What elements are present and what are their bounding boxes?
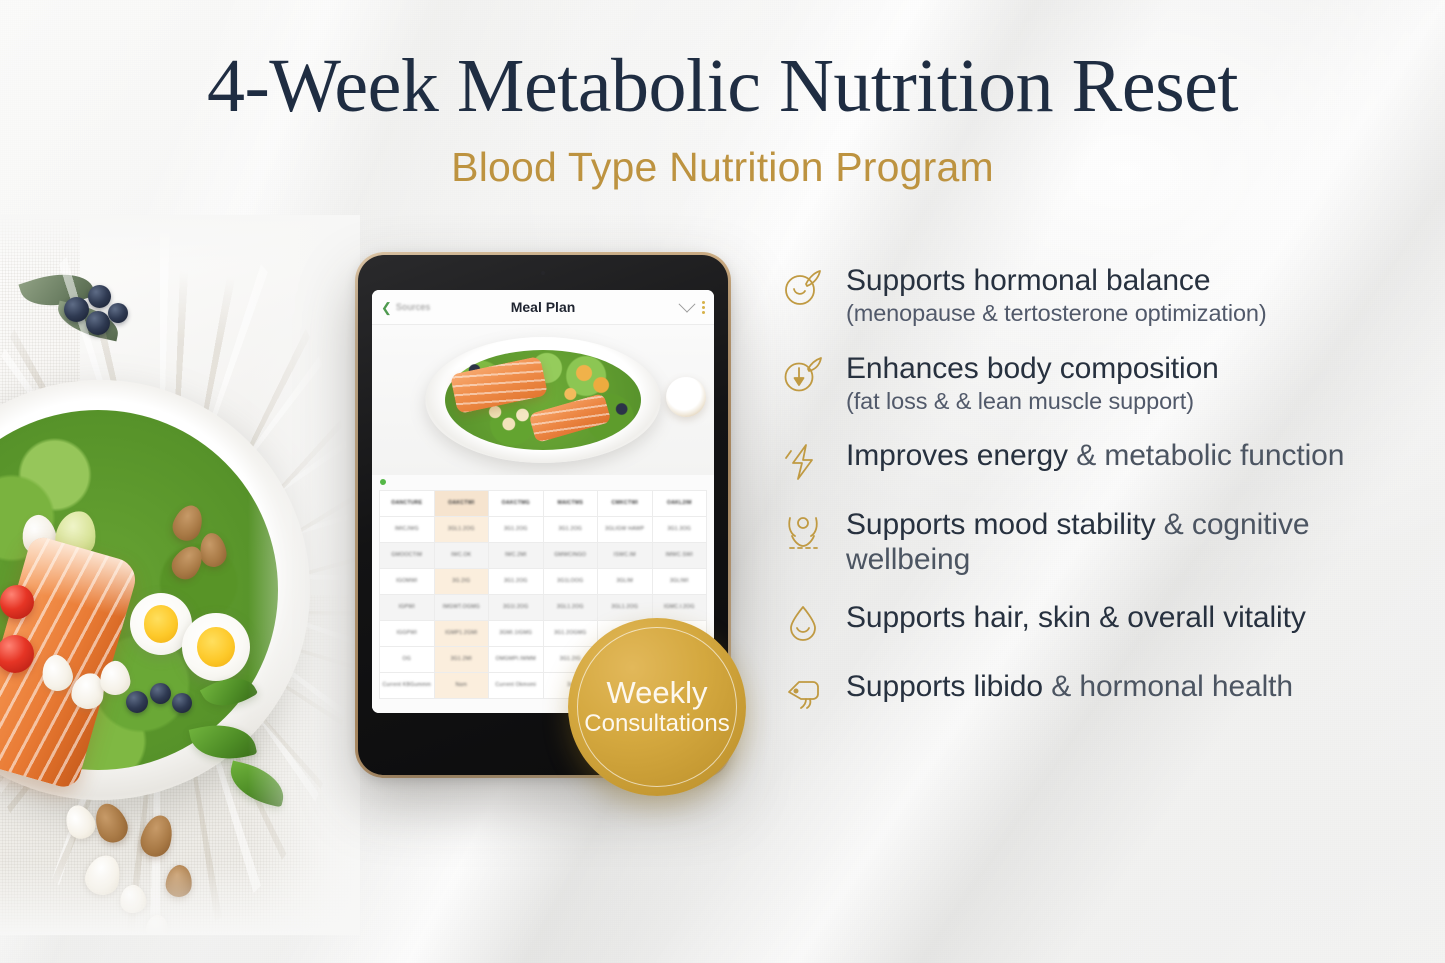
weight-arrow-leaf-circle-icon [780,352,826,398]
table-column-header: CMKCTWI [598,491,653,517]
cell-text: GMOOCTIM [382,552,432,559]
benefit-text: Improves energy & metabolic function [846,437,1344,473]
cell-text: 3GL1.2OG [600,604,650,611]
table-cell: IGMP1.2GMI [434,621,489,647]
benefit-main-strong: Supports mood stability [846,508,1156,541]
fruit-sprout-circle-icon [780,264,826,310]
green-status-dot [380,479,386,485]
table-header-row: OANCTUREOAKCTWIOAKCTMGMAICTMSCMKCTWIOAKL… [380,491,707,517]
table-cell: GMWCINGO [543,543,598,569]
table-cell: IMICJWG [380,517,435,543]
cell-text: Nam [437,682,487,689]
cell-text: OG [382,656,432,663]
hero-toppings [372,325,714,475]
cell-text: Current KBGummm [382,682,432,689]
meal-hero-image [372,325,714,475]
table-cell: 3GLIM [598,569,653,595]
table-cell: IGMC.I.2OG [652,595,707,621]
table-cell: 3GMI.1IGMG [489,621,544,647]
table-cell: 3G1.3OG [652,517,707,543]
benefit-main-text: Supports libido & hormonal health [846,669,1293,704]
cell-text: IGPWI [382,604,432,611]
table-column-header: MAICTMS [543,491,598,517]
benefit-main-text: Supports hair, skin & overall vitality [846,600,1306,635]
cell-text: 3G1.2OG [546,526,596,533]
table-cell: 3G1.2OG [489,517,544,543]
benefits-list: Supports hormonal balance (menopause & t… [780,262,1400,737]
poster-header: 4-Week Metabolic Nutrition Reset Blood T… [0,46,1445,190]
badge-line-2: Consultations [584,711,729,737]
cell-text: 3G1.2OGMG [546,630,596,637]
table-cell: 3GL1.2OG [543,595,598,621]
benefit-text: Supports libido & hormonal health [846,668,1293,704]
cell-text: IGGPWI [382,630,432,637]
table-row: GMOOCTIMIWC.OKIWC.2MIGMWCINGOISWC.IMIMWC… [380,543,707,569]
benefit-sub-text: (menopause & tertosterone optimization) [846,299,1267,328]
cell-text: 3GLIWI [655,578,705,585]
badge-line-1: Weekly [606,677,707,710]
table-column-header: OAKL2IM [652,491,707,517]
cell-text: 3G1.2OG [491,578,541,585]
cell-text: 3GLIM [600,578,650,585]
table-cell: 3G1.2MI [434,647,489,673]
table-cell: IMGWT.OGMG [434,595,489,621]
cell-text: 3GL1.2OG [437,526,487,533]
heart-ribbon-libido-icon [780,670,826,716]
benefit-item: Enhances body composition (fat loss & & … [780,350,1400,417]
table-cell: Nam [434,673,489,699]
table-cell: 3G1LOOG [543,569,598,595]
tablet-camera [541,271,545,275]
benefit-text: Supports mood stability & cognitive well… [846,506,1400,578]
cell-text: 3GL1.2OG [546,604,596,611]
benefit-main-strong: Supports libido [846,670,1043,703]
benefit-main-text: Enhances body composition [846,351,1219,386]
table-cell: GMOOCTIM [380,543,435,569]
benefit-sub-text: (fat loss & & lean muscle support) [846,387,1219,416]
cell-text: CMKCTWI [600,500,650,507]
table-cell: 3GLIGW HAWP [598,517,653,543]
benefit-item: Supports libido & hormonal health [780,668,1400,716]
table-cell: IGOMWI [380,569,435,595]
chevron-down-icon[interactable] [679,296,696,313]
table-column-header: OANCTURE [380,491,435,517]
benefit-text: Supports hair, skin & overall vitality [846,599,1306,635]
page-title: 4-Week Metabolic Nutrition Reset [0,46,1445,127]
hero-side-bowl [666,377,706,417]
cell-text: 3GMI.1IGMG [491,630,541,637]
meditation-person-icon [780,508,826,554]
table-cell: Current Okmomi [489,673,544,699]
cell-text: IWC.2MI [491,552,541,559]
cell-text: IWC.OK [437,552,487,559]
cell-text: 3GLIGW HAWP [600,526,650,533]
table-cell: OMGMPI.IWMM [489,647,544,673]
table-cell: Current KBGummm [380,673,435,699]
cell-text: 3G1.2OG [491,526,541,533]
cell-text: ISWC.IM [600,552,650,559]
cell-text: OMGMPI.IWMM [491,656,541,663]
table-row: IGPWIIMGWT.OGMG3G1I.2OG3GL1.2OG3GL1.2OGI… [380,595,707,621]
table-column-header: OAKCTMG [489,491,544,517]
cell-text: GMWCINGO [546,552,596,559]
cell-text: 3G1.2MI [437,656,487,663]
table-cell: 3G1.2OGMG [543,621,598,647]
photo-edge-fade [0,215,360,935]
back-button-label: Sources [396,302,430,312]
benefit-text: Supports hormonal balance (menopause & t… [846,262,1267,329]
water-droplet-icon [780,601,826,647]
table-row: IMICJWG3GL1.2OG3G1.2OG3G1.2OG3GLIGW HAWP… [380,517,707,543]
cell-text: Current Okmomi [491,682,541,689]
cell-text: IMICJWG [382,526,432,533]
benefit-item: Improves energy & metabolic function [780,437,1400,485]
lightning-bolt-icon [780,439,826,485]
table-cell: 3G.2IG [434,569,489,595]
table-cell: IWC.OK [434,543,489,569]
table-cell: 3G1I.2OG [489,595,544,621]
benefit-main-strong: Improves energy [846,439,1068,472]
table-cell: IGPWI [380,595,435,621]
app-header: ❮ Sources Meal Plan [372,290,714,325]
benefit-item: Supports hormonal balance (menopause & t… [780,262,1400,329]
benefit-main-light: & hormonal health [1051,670,1293,703]
table-cell: 3GLIWI [652,569,707,595]
table-cell: IGGPWI [380,621,435,647]
cell-text: OAKL2IM [655,500,705,507]
cell-text: 3G.2IG [437,578,487,585]
cell-text: OAKCTMG [491,500,541,507]
food-photo [0,215,360,935]
table-cell: IWC.2MI [489,543,544,569]
table-cell: ISWC.IM [598,543,653,569]
cell-text: IGOMWI [382,578,432,585]
cell-text: IGMC.I.2OG [655,604,705,611]
cell-text: OAKCTWI [437,500,487,507]
benefit-main-text: Supports hormonal balance [846,263,1267,298]
cell-text: OANCTURE [382,500,432,507]
back-button[interactable]: ❮ Sources [381,301,430,314]
cell-text: 3G1LOOG [546,578,596,585]
benefit-text: Enhances body composition (fat loss & & … [846,350,1219,417]
table-cell: IMWC.SWI [652,543,707,569]
table-cell: 3G1.2OG [489,569,544,595]
table-cell: 3G1.2OG [543,517,598,543]
cell-text: MAICTMS [546,500,596,507]
weekly-consultations-badge: Weekly Consultations [568,618,746,796]
benefit-item: Supports mood stability & cognitive well… [780,506,1400,578]
table-cell: OG [380,647,435,673]
cell-text: IMWC.SWI [655,552,705,559]
back-chevron-icon: ❮ [381,301,392,314]
page-subtitle: Blood Type Nutrition Program [0,145,1445,190]
kebab-menu-icon[interactable] [702,301,705,314]
benefit-main-text: Improves energy & metabolic function [846,438,1344,473]
cell-text: 3G1I.2OG [491,604,541,611]
cell-text: 3G1.3OG [655,526,705,533]
cell-text: IMGWT.OGMG [437,604,487,611]
benefit-main-light: & metabolic function [1076,439,1344,472]
poster-canvas: 4-Week Metabolic Nutrition Reset Blood T… [0,0,1445,963]
table-cell: 3GL1.2OG [434,517,489,543]
cell-text: IGMP1.2GMI [437,630,487,637]
table-cell: 3GL1.2OG [598,595,653,621]
table-row: IGOMWI3G.2IG3G1.2OG3G1LOOG3GLIM3GLIWI [380,569,707,595]
benefit-main-text: Supports mood stability & cognitive well… [846,507,1400,578]
app-header-actions [681,301,705,314]
table-column-header: OAKCTWI [434,491,489,517]
benefit-item: Supports hair, skin & overall vitality [780,599,1400,647]
